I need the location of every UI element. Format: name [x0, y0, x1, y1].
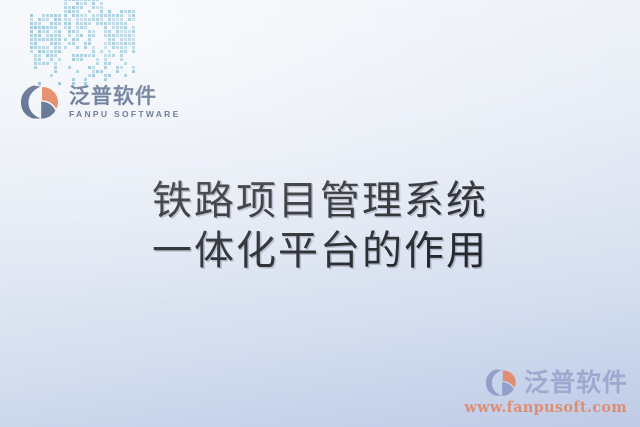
fanpu-watermark: 泛普软件 www.fanpusoft.com [464, 368, 628, 416]
skyline-pixel [76, 30, 79, 33]
skyline-pixel [72, 78, 75, 81]
skyline-pixel [46, 38, 49, 41]
skyline-pixel [88, 0, 91, 1]
skyline-pixel [92, 70, 95, 73]
skyline-pixel [120, 54, 123, 57]
skyline-pixel [38, 58, 41, 61]
skyline-pixel [104, 62, 107, 65]
skyline-pixel [30, 42, 33, 45]
skyline-pixel [58, 58, 61, 61]
skyline-pixel [88, 18, 91, 21]
skyline-pixel [132, 34, 135, 37]
skyline-pixel [30, 26, 33, 29]
skyline-pixel [72, 58, 75, 61]
skyline-pixel [68, 22, 71, 25]
skyline-pixel [104, 14, 107, 17]
skyline-pixel [58, 38, 61, 41]
skyline-pixel [88, 38, 91, 41]
skyline-pixel [76, 26, 79, 29]
skyline-pixel [104, 22, 107, 25]
skyline-pixel [46, 62, 49, 65]
brand-logo-wordmark: 泛普软件 FANPU SOFTWARE [69, 86, 181, 119]
skyline-pixel [124, 42, 127, 45]
skyline-pixel [80, 22, 83, 25]
skyline-pixel [104, 26, 107, 29]
skyline-pixel [120, 18, 123, 21]
skyline-pixel [72, 38, 75, 41]
skyline-pixel [64, 6, 67, 9]
skyline-pixel [84, 18, 87, 21]
skyline-pixel [132, 38, 135, 41]
skyline-pixel [68, 42, 71, 45]
skyline-pixel [92, 18, 95, 21]
watermark-cn-text: 泛普软件 [524, 370, 628, 395]
skyline-pixel [80, 18, 83, 21]
skyline-pixel [80, 54, 83, 57]
skyline-pixel [132, 18, 135, 21]
skyline-pixel [104, 66, 107, 69]
skyline-pixel [58, 14, 61, 17]
skyline-pixel [54, 70, 57, 73]
skyline-pixel [30, 46, 33, 49]
skyline-pixel [50, 26, 53, 29]
skyline-pixel [54, 30, 57, 33]
skyline-pixel [58, 22, 61, 25]
skyline-pixel [38, 54, 41, 57]
skyline-pixel [38, 26, 41, 29]
skyline-pixel [100, 14, 103, 17]
skyline-pixel [92, 74, 95, 77]
skyline-pixel [76, 2, 79, 5]
skyline-pixel [42, 46, 45, 49]
skyline-pixel [116, 26, 119, 29]
skyline-pixel [76, 58, 79, 61]
skyline-pixel [72, 6, 75, 9]
skyline-pixel [68, 0, 71, 1]
skyline-pixel [54, 50, 57, 53]
skyline-pixel [84, 54, 87, 57]
skyline-left-tower [30, 14, 56, 86]
skyline-pixel [38, 18, 41, 21]
skyline-pixel [58, 18, 61, 21]
skyline-pixel [42, 38, 45, 41]
skyline-pixel [50, 58, 53, 61]
skyline-pixel [88, 54, 91, 57]
skyline-pixel [64, 46, 67, 49]
skyline-pixel [30, 22, 33, 25]
watermark-logo-mark-icon [485, 368, 519, 397]
skyline-pixel [116, 46, 119, 49]
skyline-pixel [64, 26, 67, 29]
skyline-pixel [116, 66, 119, 69]
watermark-logo-row: 泛普软件 [485, 368, 628, 397]
skyline-pixel [50, 42, 53, 45]
skyline-pixel [54, 38, 57, 41]
skyline-pixel [76, 38, 79, 41]
skyline-pixel [120, 42, 123, 45]
skyline-pixel [64, 22, 67, 25]
skyline-pixel [112, 22, 115, 25]
skyline-pixel [108, 22, 111, 25]
skyline-pixel [46, 30, 49, 33]
skyline-pixel [112, 54, 115, 57]
skyline-pixel [80, 0, 83, 1]
skyline-pixel [104, 78, 107, 81]
skyline-pixel [108, 30, 111, 33]
skyline-pixel [38, 38, 41, 41]
skyline-pixel [96, 70, 99, 73]
skyline-pixel [50, 74, 53, 77]
skyline-pixel [84, 2, 87, 5]
skyline-pixel [108, 62, 111, 65]
skyline-pixel [124, 26, 127, 29]
skyline-pixel [104, 46, 107, 49]
page-title-line-2: 一体化平台的作用 [0, 226, 640, 276]
skyline-pixel [64, 38, 67, 41]
skyline-pixel [124, 22, 127, 25]
skyline-pixel [68, 34, 71, 37]
skyline-pixel [80, 14, 83, 17]
skyline-pixel [100, 70, 103, 73]
skyline-pixel [92, 34, 95, 37]
skyline-pixel [132, 46, 135, 49]
skyline-pixel [50, 54, 53, 57]
skyline-pixel [132, 10, 135, 13]
skyline-pixel [68, 26, 71, 29]
skyline-pixel [124, 46, 127, 49]
skyline-pixel [120, 58, 123, 61]
skyline-pixel [100, 22, 103, 25]
skyline-pixel [120, 10, 123, 13]
skyline-pixel [92, 66, 95, 69]
skyline-pixel [116, 30, 119, 33]
skyline-pixel [92, 50, 95, 53]
skyline-pixel [116, 18, 119, 21]
skyline-pixel [68, 18, 71, 21]
skyline-pixel [76, 10, 79, 13]
skyline-pixel [54, 22, 57, 25]
skyline-pixel [96, 22, 99, 25]
skyline-pixel [84, 42, 87, 45]
skyline-pixel [38, 46, 41, 49]
skyline-pixel [30, 38, 33, 41]
skyline-pixel [30, 50, 33, 53]
skyline-pixel [120, 50, 123, 53]
skyline-pixel [108, 38, 111, 41]
skyline-pixel [88, 30, 91, 33]
skyline-pixel [100, 2, 103, 5]
skyline-pixel [120, 22, 123, 25]
skyline-pixel [92, 2, 95, 5]
skyline-pixel [54, 26, 57, 29]
skyline-pixel [34, 66, 37, 69]
skyline-pixel [58, 42, 61, 45]
skyline-pixel [80, 6, 83, 9]
skyline-pixel [100, 18, 103, 21]
skyline-pixel [104, 54, 107, 57]
skyline-pixel [54, 62, 57, 65]
skyline-pixel [42, 14, 45, 17]
skyline-pixel [84, 78, 87, 81]
skyline-pixel [92, 6, 95, 9]
skyline-pixel [46, 26, 49, 29]
skyline-pixel [38, 30, 41, 33]
skyline-center-tower [64, 0, 96, 86]
skyline-pixel [38, 50, 41, 53]
skyline-pixel [46, 18, 49, 21]
skyline-pixel [54, 14, 57, 17]
skyline-pixel [80, 2, 83, 5]
skyline-pixel [100, 6, 103, 9]
skyline-pixel [64, 10, 67, 13]
skyline-pixel [128, 38, 131, 41]
skyline-pixel [108, 34, 111, 37]
skyline-pixel [100, 50, 103, 53]
skyline-pixel [132, 26, 135, 29]
skyline-pixel [54, 34, 57, 37]
skyline-pixel [84, 0, 87, 1]
skyline-pixel [72, 0, 75, 1]
skyline-pixel [104, 74, 107, 77]
brand-logo: 泛普软件 FANPU SOFTWARE [20, 84, 181, 120]
skyline-pixel [92, 14, 95, 17]
skyline-pixel [34, 54, 37, 57]
skyline-pixel [42, 62, 45, 65]
skyline-pixel [50, 50, 53, 53]
skyline-pixel [46, 54, 49, 57]
skyline-pixel [104, 58, 107, 61]
skyline-pixel [120, 26, 123, 29]
skyline-pixel [34, 46, 37, 49]
skyline-pixel [116, 34, 119, 37]
skyline-pixel [116, 70, 119, 73]
skyline-pixel [132, 14, 135, 17]
skyline-pixel [76, 22, 79, 25]
skyline-pixel [34, 62, 37, 65]
skyline-pixel [112, 18, 115, 21]
skyline-pixel [68, 30, 71, 33]
skyline-pixel [80, 26, 83, 29]
skyline-pixel [108, 14, 111, 17]
skyline-pixel [58, 50, 61, 53]
skyline-pixel [112, 14, 115, 17]
skyline-pixel [38, 34, 41, 37]
skyline-pixel [68, 6, 71, 9]
skyline-pixel [132, 70, 135, 73]
skyline-pixel [124, 50, 127, 53]
skyline-pixel [92, 0, 95, 1]
skyline-pixel [108, 10, 111, 13]
skyline-pixel [68, 66, 71, 69]
skyline-pixel [34, 42, 37, 45]
skyline-pixel [96, 58, 99, 61]
skyline-pixel [54, 66, 57, 69]
skyline-pixel [30, 18, 33, 21]
skyline-pixel [128, 34, 131, 37]
skyline-pixel [124, 30, 127, 33]
skyline-pixel [132, 50, 135, 53]
skyline-pixel [96, 62, 99, 65]
skyline-pixel [72, 14, 75, 17]
skyline-pixel [46, 46, 49, 49]
skyline-pixel [34, 26, 37, 29]
skyline-pixel [100, 10, 103, 13]
skyline-pixel [88, 66, 91, 69]
skyline-pixel [50, 14, 53, 17]
skyline-pixel [84, 46, 87, 49]
skyline-pixel [112, 46, 115, 49]
skyline-pixel [68, 10, 71, 13]
skyline-pixel [80, 34, 83, 37]
skyline-pixel [42, 50, 45, 53]
skyline-pixel [92, 30, 95, 33]
skyline-pixel [50, 22, 53, 25]
skyline-pixel [64, 0, 67, 1]
skyline-pixel [54, 46, 57, 49]
skyline-pixel [88, 10, 91, 13]
skyline-pixel [96, 0, 99, 1]
skyline-pixel [108, 74, 111, 77]
watermark-url-text: www.fanpusoft.com [464, 399, 627, 416]
skyline-pixel [124, 74, 127, 77]
skyline-pixel [34, 22, 37, 25]
skyline-pixel [120, 34, 123, 37]
skyline-pixel [46, 50, 49, 53]
brand-logo-en-text: FANPU SOFTWARE [69, 110, 181, 119]
skyline-pixel [42, 26, 45, 29]
skyline-pixel [76, 14, 79, 17]
skyline-pixel [76, 46, 79, 49]
skyline-pixel [128, 30, 131, 33]
fanpu-logo-mark-icon [20, 84, 62, 120]
skyline-pixel [112, 26, 115, 29]
skyline-pixel [76, 18, 79, 21]
skyline-pixel [92, 46, 95, 49]
skyline-pixel [34, 58, 37, 61]
skyline-pixel [76, 6, 79, 9]
skyline-pixel [116, 22, 119, 25]
skyline-pixel [132, 42, 135, 45]
skyline-pixel [116, 14, 119, 17]
skyline-pixel [64, 18, 67, 21]
skyline-pixel [128, 18, 131, 21]
skyline-pixel [42, 30, 45, 33]
skyline-pixel [120, 14, 123, 17]
skyline-pixel [42, 18, 45, 21]
skyline-pixel [108, 42, 111, 45]
skyline-pixel [64, 14, 67, 17]
skyline-pixel [120, 66, 123, 69]
skyline-pixel [92, 54, 95, 57]
skyline-pixel [46, 34, 49, 37]
skyline-pixel [58, 34, 61, 37]
skyline-pixel [54, 42, 57, 45]
skyline-pixel [34, 34, 37, 37]
skyline-pixel [108, 50, 111, 53]
skyline-pixel [88, 34, 91, 37]
skyline-pixel [50, 34, 53, 37]
skyline-right-tower [104, 10, 130, 86]
skyline-pixel [108, 54, 111, 57]
skyline-pixel [124, 62, 127, 65]
skyline-pixel [34, 38, 37, 41]
skyline-pixel [112, 42, 115, 45]
skyline-pixel [104, 34, 107, 37]
skyline-pixel [124, 10, 127, 13]
skyline-pixel [76, 54, 79, 57]
skyline-pixel [132, 66, 135, 69]
skyline-pixel [58, 30, 61, 33]
pixel-building-skyline [30, 0, 140, 86]
skyline-pixel [120, 46, 123, 49]
skyline-pixel [72, 30, 75, 33]
skyline-pixel [76, 70, 79, 73]
skyline-pixel [54, 54, 57, 57]
skyline-pixel [88, 22, 91, 25]
skyline-pixel [124, 34, 127, 37]
skyline-pixel [50, 38, 53, 41]
skyline-pixel [128, 14, 131, 17]
skyline-pixel [120, 30, 123, 33]
skyline-pixel [84, 22, 87, 25]
skyline-pixel [132, 30, 135, 33]
skyline-pixel [58, 46, 61, 49]
skyline-pixel [96, 14, 99, 17]
skyline-pixel [112, 38, 115, 41]
skyline-pixel [80, 58, 83, 61]
skyline-pixel [72, 42, 75, 45]
skyline-pixel [104, 42, 107, 45]
skyline-pixel [96, 6, 99, 9]
skyline-pixel [124, 38, 127, 41]
skyline-pixel [116, 42, 119, 45]
skyline-pixel [112, 34, 115, 37]
skyline-pixel [72, 10, 75, 13]
brand-logo-cn-text: 泛普软件 [69, 86, 181, 107]
skyline-pixel [84, 26, 87, 29]
skyline-pixel [104, 30, 107, 33]
skyline-pixel [84, 14, 87, 17]
page-title: 铁路项目管理系统 一体化平台的作用 [0, 176, 640, 276]
slide-canvas: 泛普软件 FANPU SOFTWARE 铁路项目管理系统 一体化平台的作用 泛普… [0, 0, 640, 427]
skyline-pixel [30, 34, 33, 37]
page-title-line-1: 铁路项目管理系统 [0, 176, 640, 226]
skyline-pixel [128, 10, 131, 13]
skyline-pixel [46, 14, 49, 17]
skyline-pixel [88, 74, 91, 77]
skyline-pixel [54, 18, 57, 21]
skyline-pixel [128, 42, 131, 45]
skyline-pixel [64, 2, 67, 5]
skyline-pixel [96, 18, 99, 21]
skyline-pixel [38, 22, 41, 25]
skyline-pixel [30, 14, 33, 17]
skyline-pixel [76, 34, 79, 37]
skyline-pixel [76, 0, 79, 1]
skyline-pixel [108, 18, 111, 21]
skyline-pixel [120, 38, 123, 41]
skyline-pixel [88, 42, 91, 45]
skyline-pixel [72, 54, 75, 57]
skyline-pixel [30, 30, 33, 33]
skyline-pixel [38, 62, 41, 65]
